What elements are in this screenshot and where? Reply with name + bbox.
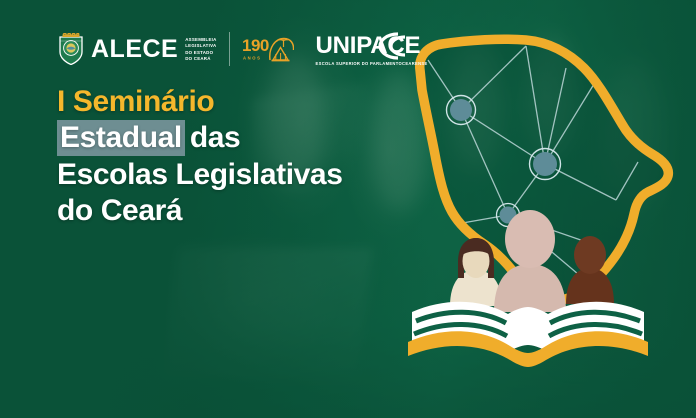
ceara-map-graphic [398, 12, 696, 382]
190-anos-logo-icon[interactable]: 190 ANOS [242, 30, 294, 68]
unipace-tagline: ESCOLA SUPERIOR DO PARLAMENTO CEARENSE [316, 61, 428, 66]
title-highlight: Estadual [57, 120, 185, 156]
node-northwest [447, 96, 476, 125]
alece-subtitle-line-4: DO CEARÁ [185, 56, 210, 61]
alece-subtitle-line-3: DO ESTADO [185, 50, 213, 55]
svg-text:190: 190 [242, 36, 269, 55]
event-title: I Seminário Estadualdas Escolas Legislat… [57, 84, 343, 229]
title-line-2-rest: das [185, 121, 241, 154]
bg-blur-laptop [162, 248, 373, 378]
svg-text:ANOS: ANOS [243, 56, 262, 61]
ceara-coat-of-arms-icon [58, 33, 84, 65]
alece-subtitle: ASSEMBLEIA LEGISLATIVA DO ESTADO DO CEAR… [185, 36, 216, 63]
alece-logo[interactable]: ALECE ASSEMBLEIA LEGISLATIVA DO ESTADO D… [58, 33, 217, 65]
open-book-icon [408, 302, 648, 367]
logo-bar: ALECE ASSEMBLEIA LEGISLATIVA DO ESTADO D… [58, 30, 428, 68]
alece-subtitle-line-1: ASSEMBLEIA [185, 37, 216, 42]
unipace-swoosh-icon [374, 32, 408, 65]
title-line-4: do Ceará [57, 193, 343, 229]
alece-subtitle-line-2: LEGISLATIVA [185, 43, 216, 48]
title-line-3: Escolas Legislativas [57, 157, 343, 193]
logo-divider [229, 32, 230, 66]
alece-wordmark: ALECE [91, 37, 178, 62]
event-banner: ALECE ASSEMBLEIA LEGISLATIVA DO ESTADO D… [0, 0, 696, 418]
title-line-2: Estadualdas [57, 120, 343, 156]
title-line-1: I Seminário [57, 84, 343, 120]
unipace-logo[interactable]: UNIPACE ESCOLA SUPERIOR DO PARLAMENTO CE… [316, 33, 428, 66]
node-center [530, 149, 561, 180]
